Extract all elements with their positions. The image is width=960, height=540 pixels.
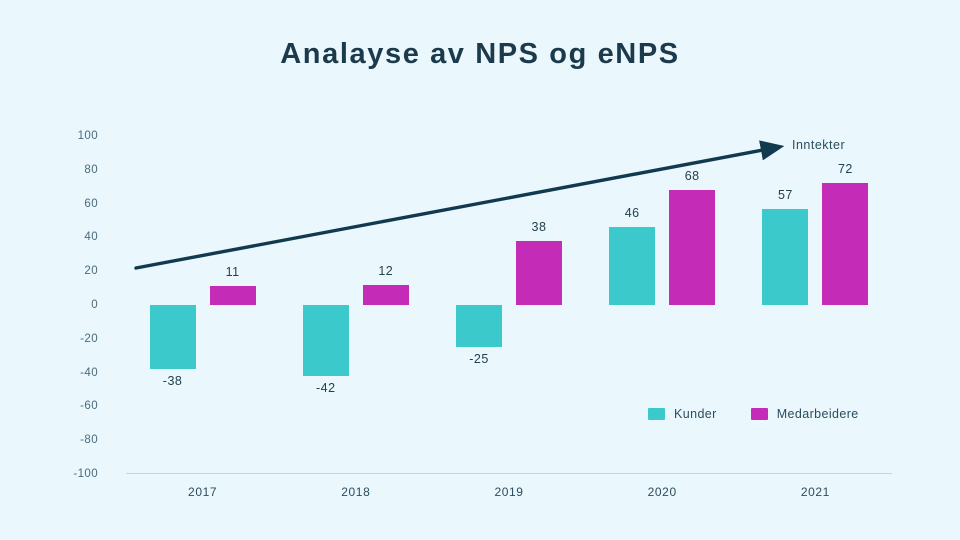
bar-value-label: 46 xyxy=(625,206,640,220)
x-axis-tick-label: 2018 xyxy=(341,485,370,499)
y-axis-tick-label: 0 xyxy=(18,299,98,311)
bar-medarbeidere-2018[interactable] xyxy=(363,285,409,305)
bar-value-label: 38 xyxy=(532,220,547,234)
bar-value-label: -38 xyxy=(163,374,183,388)
y-axis-tick-label: -20 xyxy=(18,333,98,345)
chart-title: Analayse av NPS og eNPS xyxy=(0,38,960,71)
bar-kunder-2021[interactable] xyxy=(762,209,808,305)
bar-kunder-2017[interactable] xyxy=(150,305,196,369)
revenue-trend-label: Inntekter xyxy=(792,138,845,152)
chart-canvas: Analayse av NPS og eNPS 100806040200-20-… xyxy=(0,0,960,540)
y-axis: 100806040200-20-40-60-80-100 xyxy=(0,136,120,474)
bar-medarbeidere-2021[interactable] xyxy=(822,183,868,305)
x-axis: 20172018201920202021 xyxy=(126,485,892,515)
y-axis-tick-label: 80 xyxy=(18,164,98,176)
y-axis-tick-label: -60 xyxy=(18,400,98,412)
bar-kunder-2019[interactable] xyxy=(456,305,502,347)
y-axis-tick-label: 20 xyxy=(18,265,98,277)
x-axis-tick-label: 2021 xyxy=(801,485,830,499)
bar-medarbeidere-2019[interactable] xyxy=(516,241,562,305)
x-axis-tick-label: 2017 xyxy=(188,485,217,499)
y-axis-tick-label: 40 xyxy=(18,231,98,243)
chart-legend: Kunder Medarbeidere xyxy=(648,407,859,421)
legend-item-medarbeidere[interactable]: Medarbeidere xyxy=(751,407,859,421)
y-axis-tick-label: -100 xyxy=(18,468,98,480)
bar-value-label: -25 xyxy=(469,352,489,366)
bar-value-label: 57 xyxy=(778,188,793,202)
bar-kunder-2020[interactable] xyxy=(609,227,655,305)
bar-value-label: 68 xyxy=(685,169,700,183)
legend-label-kunder: Kunder xyxy=(674,407,717,421)
y-axis-tick-label: -80 xyxy=(18,434,98,446)
bar-medarbeidere-2020[interactable] xyxy=(669,190,715,305)
bar-value-label: 11 xyxy=(226,265,240,279)
legend-swatch-icon-medarbeidere xyxy=(751,408,768,420)
bar-value-label: -42 xyxy=(316,381,336,395)
x-axis-tick-label: 2020 xyxy=(648,485,677,499)
axis-baseline xyxy=(126,473,892,474)
bar-kunder-2018[interactable] xyxy=(303,305,349,376)
bar-value-label: 12 xyxy=(378,264,393,278)
y-axis-tick-label: -40 xyxy=(18,367,98,379)
plot-area: -3811-4212-253846685772 xyxy=(126,136,892,474)
x-axis-tick-label: 2019 xyxy=(494,485,523,499)
legend-label-medarbeidere: Medarbeidere xyxy=(777,407,859,421)
bar-medarbeidere-2017[interactable] xyxy=(210,286,256,305)
legend-swatch-icon-kunder xyxy=(648,408,665,420)
y-axis-tick-label: 100 xyxy=(18,130,98,142)
y-axis-tick-label: 60 xyxy=(18,198,98,210)
legend-item-kunder[interactable]: Kunder xyxy=(648,407,717,421)
bar-value-label: 72 xyxy=(838,162,853,176)
